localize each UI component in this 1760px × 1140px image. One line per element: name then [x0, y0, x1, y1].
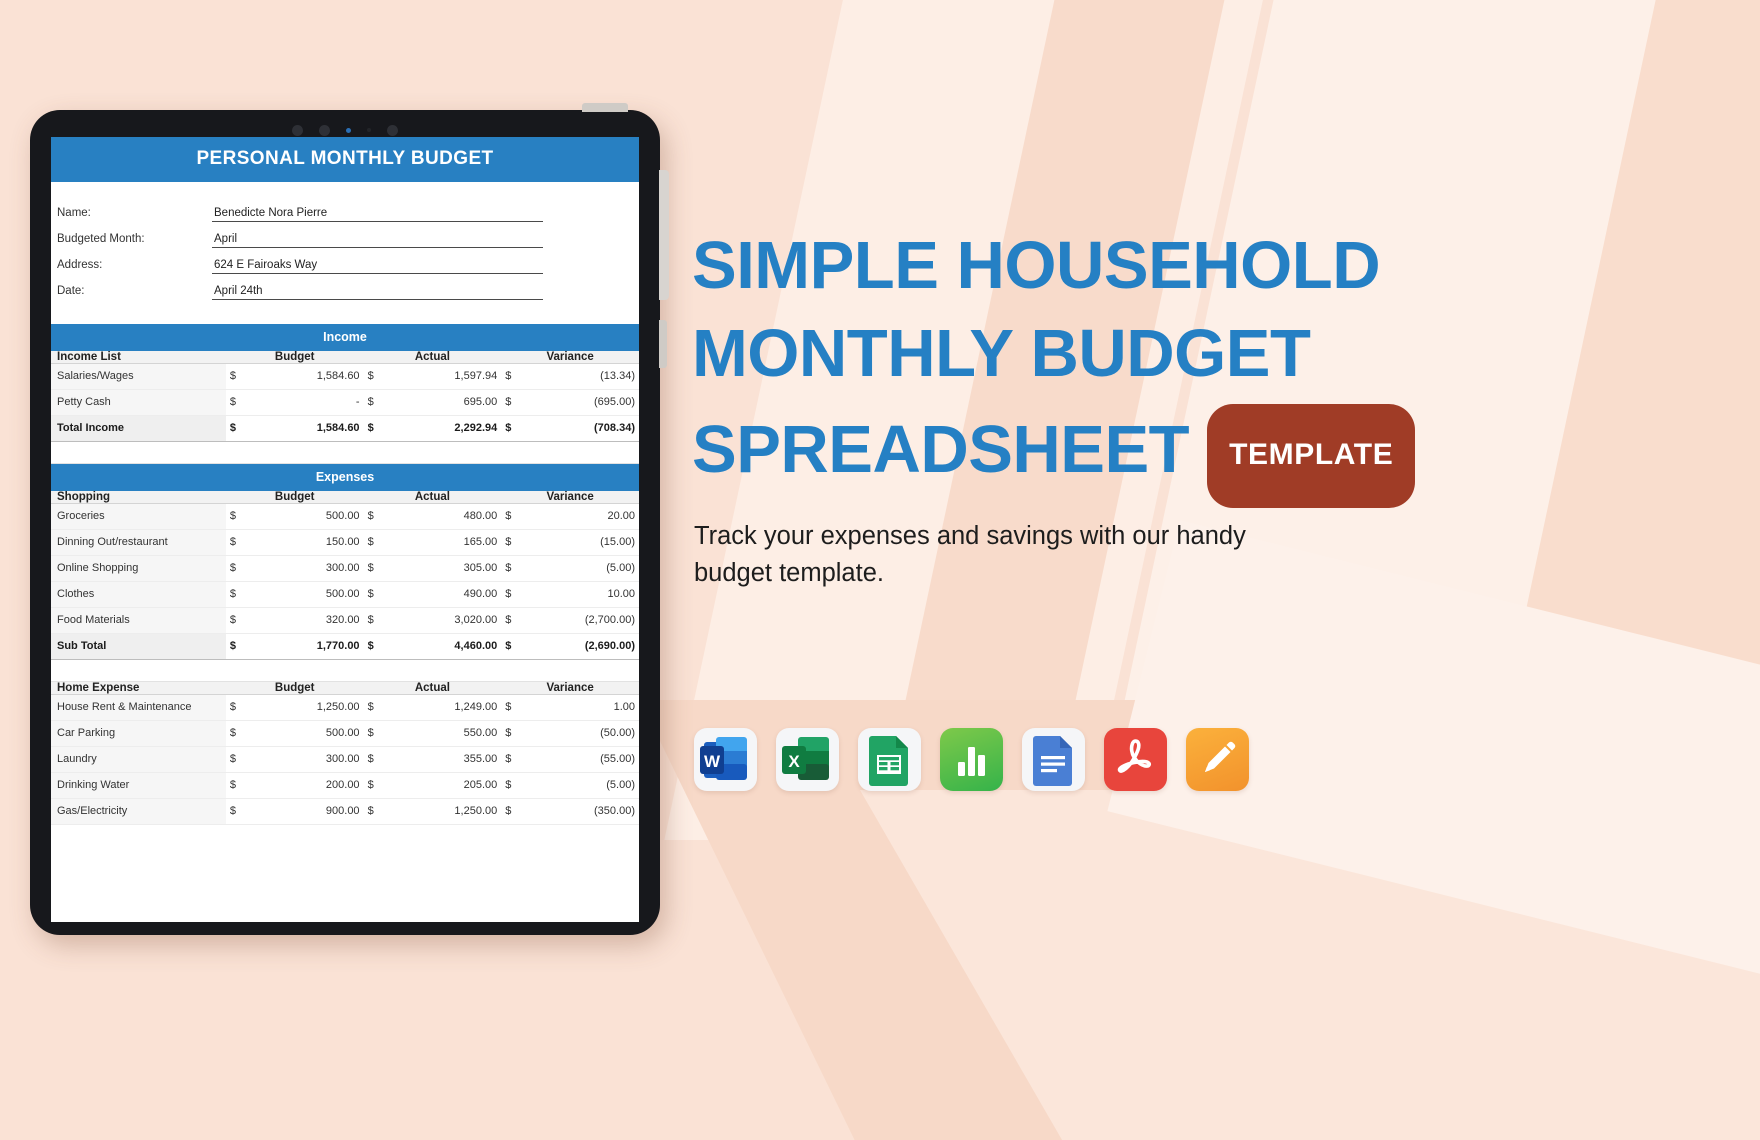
currency-symbol: $: [501, 504, 529, 530]
actual-value: 4,460.00: [392, 634, 501, 660]
currency-symbol: $: [364, 721, 392, 747]
table-row[interactable]: Gas/Electricity $ 900.00 $ 1,250.00 $ (3…: [51, 799, 639, 825]
budget-spreadsheet: PERSONAL MONTHLY BUDGET Name: Benedicte …: [51, 137, 639, 825]
meta-row-name: Name: Benedicte Nora Pierre: [51, 196, 639, 222]
actual-value: 305.00: [392, 556, 501, 582]
actual-value: 490.00: [392, 582, 501, 608]
currency-symbol: $: [364, 747, 392, 773]
headline-line-3: SPREADSHEET: [692, 406, 1189, 494]
currency-symbol: $: [226, 504, 254, 530]
svg-text:X: X: [788, 752, 800, 771]
pdf-icon[interactable]: [1104, 728, 1167, 791]
row-label: Total Income: [51, 416, 226, 442]
shopping-col-variance: Variance: [501, 491, 639, 504]
currency-symbol: $: [364, 364, 392, 390]
home-col-actual: Actual: [364, 682, 502, 695]
microsoft-word-icon[interactable]: W: [694, 728, 757, 791]
currency-symbol: $: [501, 364, 529, 390]
variance-value: 1.00: [530, 695, 639, 721]
variance-value: (5.00): [530, 773, 639, 799]
row-label: Dinning Out/restaurant: [51, 530, 226, 556]
date-field[interactable]: April 24th: [212, 285, 543, 300]
spacer-3: [51, 660, 639, 682]
camera-lens-2-icon: [387, 125, 398, 136]
shopping-expenses-table: Shopping Budget Actual Variance Grocerie…: [51, 491, 639, 660]
budget-value: 200.00: [254, 773, 363, 799]
date-label: Date:: [57, 285, 212, 300]
camera-mic-icon: [367, 128, 371, 132]
tablet-volume-buttons[interactable]: [659, 170, 669, 300]
actual-value: 2,292.94: [392, 416, 501, 442]
actual-value: 1,250.00: [392, 799, 501, 825]
home-col-name: Home Expense: [51, 682, 226, 695]
actual-value: 1,249.00: [392, 695, 501, 721]
currency-symbol: $: [226, 556, 254, 582]
table-row[interactable]: Car Parking $ 500.00 $ 550.00 $ (50.00): [51, 721, 639, 747]
google-sheets-icon[interactable]: [858, 728, 921, 791]
shopping-header-row: Shopping Budget Actual Variance: [51, 491, 639, 504]
currency-symbol: $: [226, 747, 254, 773]
currency-symbol: $: [364, 416, 392, 442]
income-table: Income List Budget Actual Variance Salar…: [51, 351, 639, 442]
table-row[interactable]: Salaries/Wages $ 1,584.60 $ 1,597.94 $ (…: [51, 364, 639, 390]
table-row[interactable]: House Rent & Maintenance $ 1,250.00 $ 1,…: [51, 695, 639, 721]
actual-value: 1,597.94: [392, 364, 501, 390]
currency-symbol: $: [226, 634, 254, 660]
currency-symbol: $: [364, 390, 392, 416]
variance-value: (55.00): [530, 747, 639, 773]
table-row[interactable]: Clothes $ 500.00 $ 490.00 $ 10.00: [51, 582, 639, 608]
variance-value: 10.00: [530, 582, 639, 608]
currency-symbol: $: [226, 721, 254, 747]
currency-symbol: $: [364, 582, 392, 608]
table-row[interactable]: Petty Cash $ - $ 695.00 $ (695.00): [51, 390, 639, 416]
address-field[interactable]: 624 E Fairoaks Way: [212, 259, 543, 274]
spreadsheet-title: PERSONAL MONTHLY BUDGET: [51, 137, 639, 182]
microsoft-excel-icon[interactable]: X: [776, 728, 839, 791]
row-label: Food Materials: [51, 608, 226, 634]
budget-value: -: [254, 390, 363, 416]
tablet-power-button[interactable]: [582, 103, 628, 112]
budget-value: 1,250.00: [254, 695, 363, 721]
svg-text:W: W: [704, 752, 721, 771]
variance-value: (2,690.00): [530, 634, 639, 660]
currency-symbol: $: [364, 504, 392, 530]
tablet-mockup: PERSONAL MONTHLY BUDGET Name: Benedicte …: [30, 110, 660, 935]
meta-row-date: Date: April 24th: [51, 274, 639, 300]
row-label: Clothes: [51, 582, 226, 608]
home-col-budget: Budget: [226, 682, 364, 695]
income-col-name: Income List: [51, 351, 226, 364]
camera-indicator-icon: [346, 128, 351, 133]
table-row[interactable]: Drinking Water $ 200.00 $ 205.00 $ (5.00…: [51, 773, 639, 799]
currency-symbol: $: [501, 416, 529, 442]
shopping-subtotal-row: Sub Total $ 1,770.00 $ 4,460.00 $ (2,690…: [51, 634, 639, 660]
meta-fields: Name: Benedicte Nora Pierre Budgeted Mon…: [51, 182, 639, 308]
template-badge: TEMPLATE: [1207, 404, 1415, 508]
currency-symbol: $: [226, 799, 254, 825]
variance-value: (350.00): [530, 799, 639, 825]
currency-symbol: $: [226, 608, 254, 634]
camera-lens-icon: [292, 125, 303, 136]
row-label: House Rent & Maintenance: [51, 695, 226, 721]
income-section-band: Income: [51, 324, 639, 351]
table-row[interactable]: Food Materials $ 320.00 $ 3,020.00 $ (2,…: [51, 608, 639, 634]
promo-description: Track your expenses and savings with our…: [694, 518, 1314, 592]
variance-value: (695.00): [530, 390, 639, 416]
name-field[interactable]: Benedicte Nora Pierre: [212, 207, 543, 222]
variance-value: (15.00): [530, 530, 639, 556]
home-expenses-table: Home Expense Budget Actual Variance Hous…: [51, 682, 639, 825]
currency-symbol: $: [501, 634, 529, 660]
promo-headline: SIMPLE HOUSEHOLD MONTHLY BUDGET SPREADSH…: [692, 222, 1692, 502]
actual-value: 355.00: [392, 747, 501, 773]
table-row[interactable]: Laundry $ 300.00 $ 355.00 $ (55.00): [51, 747, 639, 773]
table-row[interactable]: Dinning Out/restaurant $ 150.00 $ 165.00…: [51, 530, 639, 556]
home-col-variance: Variance: [501, 682, 639, 695]
actual-value: 165.00: [392, 530, 501, 556]
currency-symbol: $: [226, 530, 254, 556]
currency-symbol: $: [501, 390, 529, 416]
budget-value: 300.00: [254, 556, 363, 582]
budgeted-month-label: Budgeted Month:: [57, 233, 212, 248]
budget-value: 1,584.60: [254, 364, 363, 390]
income-total-row: Total Income $ 1,584.60 $ 2,292.94 $ (70…: [51, 416, 639, 442]
currency-symbol: $: [501, 773, 529, 799]
actual-value: 550.00: [392, 721, 501, 747]
row-label: Petty Cash: [51, 390, 226, 416]
headline-line-1: SIMPLE HOUSEHOLD: [692, 222, 1692, 310]
budget-value: 500.00: [254, 582, 363, 608]
actual-value: 695.00: [392, 390, 501, 416]
currency-symbol: $: [501, 556, 529, 582]
promo-panel: SIMPLE HOUSEHOLD MONTHLY BUDGET SPREADSH…: [690, 0, 1760, 1140]
actual-value: 205.00: [392, 773, 501, 799]
name-label: Name:: [57, 207, 212, 222]
currency-symbol: $: [501, 530, 529, 556]
supported-formats-row: W X: [694, 728, 1249, 791]
row-label: Sub Total: [51, 634, 226, 660]
currency-symbol: $: [364, 695, 392, 721]
income-col-actual: Actual: [364, 351, 502, 364]
spacer-1: [51, 308, 639, 324]
budget-value: 300.00: [254, 747, 363, 773]
tablet-camera-row: [30, 123, 660, 137]
shopping-col-name: Shopping: [51, 491, 226, 504]
row-label: Salaries/Wages: [51, 364, 226, 390]
meta-row-address: Address: 624 E Fairoaks Way: [51, 248, 639, 274]
shopping-col-actual: Actual: [364, 491, 502, 504]
currency-symbol: $: [226, 695, 254, 721]
row-label: Laundry: [51, 747, 226, 773]
currency-symbol: $: [501, 721, 529, 747]
address-label: Address:: [57, 259, 212, 274]
budget-value: 320.00: [254, 608, 363, 634]
income-header-row: Income List Budget Actual Variance: [51, 351, 639, 364]
currency-symbol: $: [364, 799, 392, 825]
currency-symbol: $: [226, 582, 254, 608]
home-header-row: Home Expense Budget Actual Variance: [51, 682, 639, 695]
variance-value: (5.00): [530, 556, 639, 582]
table-row[interactable]: Online Shopping $ 300.00 $ 305.00 $ (5.0…: [51, 556, 639, 582]
spacer-2: [51, 442, 639, 464]
google-docs-icon[interactable]: [1022, 728, 1085, 791]
currency-symbol: $: [226, 364, 254, 390]
headline-line-3-row: SPREADSHEET TEMPLATE: [692, 398, 1692, 502]
currency-symbol: $: [364, 634, 392, 660]
expenses-section-band: Expenses: [51, 464, 639, 491]
shopping-col-budget: Budget: [226, 491, 364, 504]
currency-symbol: $: [501, 608, 529, 634]
income-col-budget: Budget: [226, 351, 364, 364]
variance-value: (2,700.00): [530, 608, 639, 634]
variance-value: (50.00): [530, 721, 639, 747]
budget-value: 500.00: [254, 721, 363, 747]
apple-numbers-icon[interactable]: [940, 728, 1003, 791]
budget-value: 1,584.60: [254, 416, 363, 442]
tablet-body: PERSONAL MONTHLY BUDGET Name: Benedicte …: [30, 110, 660, 935]
currency-symbol: $: [501, 582, 529, 608]
table-row[interactable]: Groceries $ 500.00 $ 480.00 $ 20.00: [51, 504, 639, 530]
currency-symbol: $: [364, 773, 392, 799]
budget-value: 150.00: [254, 530, 363, 556]
variance-value: (708.34): [530, 416, 639, 442]
variance-value: 20.00: [530, 504, 639, 530]
currency-symbol: $: [226, 773, 254, 799]
budgeted-month-field[interactable]: April: [212, 233, 543, 248]
variance-value: (13.34): [530, 364, 639, 390]
apple-pages-icon[interactable]: [1186, 728, 1249, 791]
currency-symbol: $: [501, 695, 529, 721]
meta-row-month: Budgeted Month: April: [51, 222, 639, 248]
camera-sensor-icon: [319, 125, 330, 136]
tablet-screen[interactable]: PERSONAL MONTHLY BUDGET Name: Benedicte …: [51, 137, 639, 922]
currency-symbol: $: [501, 799, 529, 825]
currency-symbol: $: [226, 416, 254, 442]
row-label: Groceries: [51, 504, 226, 530]
row-label: Drinking Water: [51, 773, 226, 799]
headline-line-2: MONTHLY BUDGET: [692, 310, 1692, 398]
currency-symbol: $: [364, 530, 392, 556]
row-label: Online Shopping: [51, 556, 226, 582]
currency-symbol: $: [226, 390, 254, 416]
actual-value: 480.00: [392, 504, 501, 530]
budget-value: 500.00: [254, 504, 363, 530]
row-label: Car Parking: [51, 721, 226, 747]
currency-symbol: $: [501, 747, 529, 773]
tablet-side-button[interactable]: [659, 320, 667, 368]
budget-value: 900.00: [254, 799, 363, 825]
currency-symbol: $: [364, 556, 392, 582]
budget-value: 1,770.00: [254, 634, 363, 660]
income-col-variance: Variance: [501, 351, 639, 364]
actual-value: 3,020.00: [392, 608, 501, 634]
row-label: Gas/Electricity: [51, 799, 226, 825]
currency-symbol: $: [364, 608, 392, 634]
